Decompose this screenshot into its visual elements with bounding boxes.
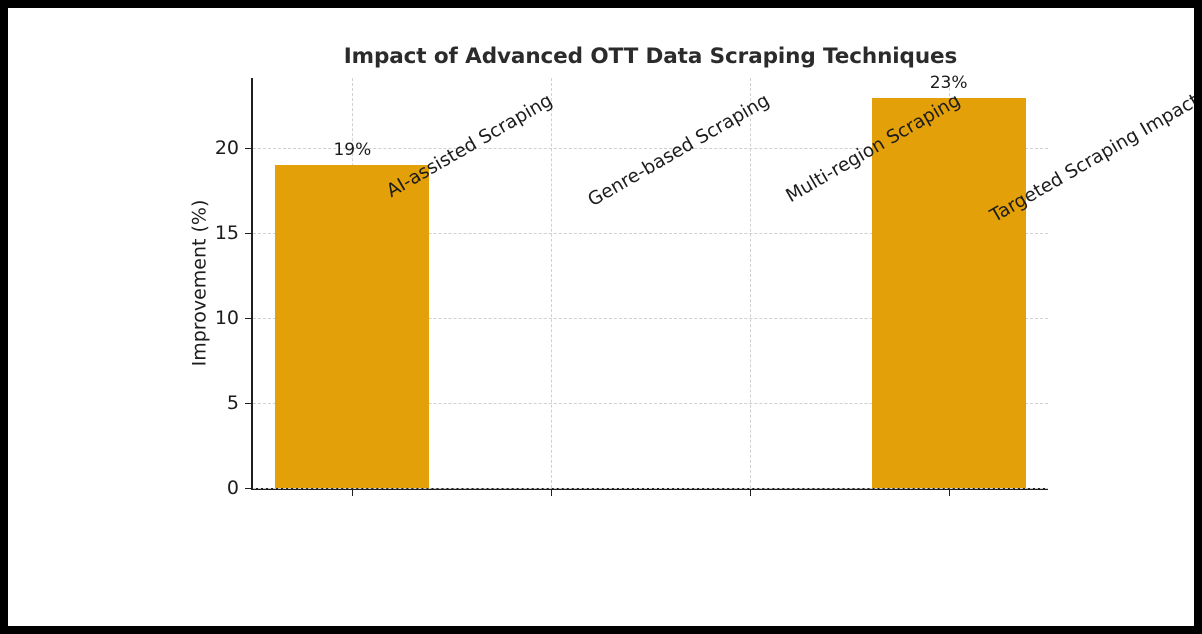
y-tick-mark xyxy=(245,488,251,489)
y-axis-spine xyxy=(251,78,253,489)
x-tick-label: Genre-based Scraping xyxy=(585,90,774,211)
gridline-horizontal xyxy=(253,488,1048,489)
y-tick-mark xyxy=(245,403,251,404)
bar[interactable] xyxy=(872,98,1026,488)
y-tick-mark xyxy=(245,233,251,234)
x-tick-mark xyxy=(750,489,751,496)
bar-value-label: 23% xyxy=(930,73,968,93)
x-tick-mark xyxy=(352,489,353,496)
chart-title: Impact of Advanced OTT Data Scraping Tec… xyxy=(253,44,1048,69)
plot-area: 05101520 19%23% AI-assisted ScrapingGenr… xyxy=(253,78,1048,488)
bar[interactable] xyxy=(275,165,429,488)
chart-figure: Impact of Advanced OTT Data Scraping Tec… xyxy=(8,8,1194,626)
y-tick-label: 15 xyxy=(215,222,239,244)
y-tick-label: 0 xyxy=(227,477,239,499)
screenshot-root: Impact of Advanced OTT Data Scraping Tec… xyxy=(0,0,1202,634)
x-tick-mark xyxy=(551,489,552,496)
y-tick-label: 20 xyxy=(215,137,239,159)
y-axis-label-text: Improvement (%) xyxy=(188,200,210,367)
x-tick-mark xyxy=(949,489,950,496)
x-tick-label: AI-assisted Scraping xyxy=(384,90,557,202)
y-tick-mark xyxy=(245,318,251,319)
gridline-vertical xyxy=(551,78,552,488)
y-tick-label: 5 xyxy=(227,392,239,414)
y-tick-mark xyxy=(245,148,251,149)
y-tick-label: 10 xyxy=(215,307,239,329)
bar-value-label: 19% xyxy=(333,140,371,160)
gridline-vertical xyxy=(750,78,751,488)
y-axis-label: Improvement (%) xyxy=(186,78,212,488)
